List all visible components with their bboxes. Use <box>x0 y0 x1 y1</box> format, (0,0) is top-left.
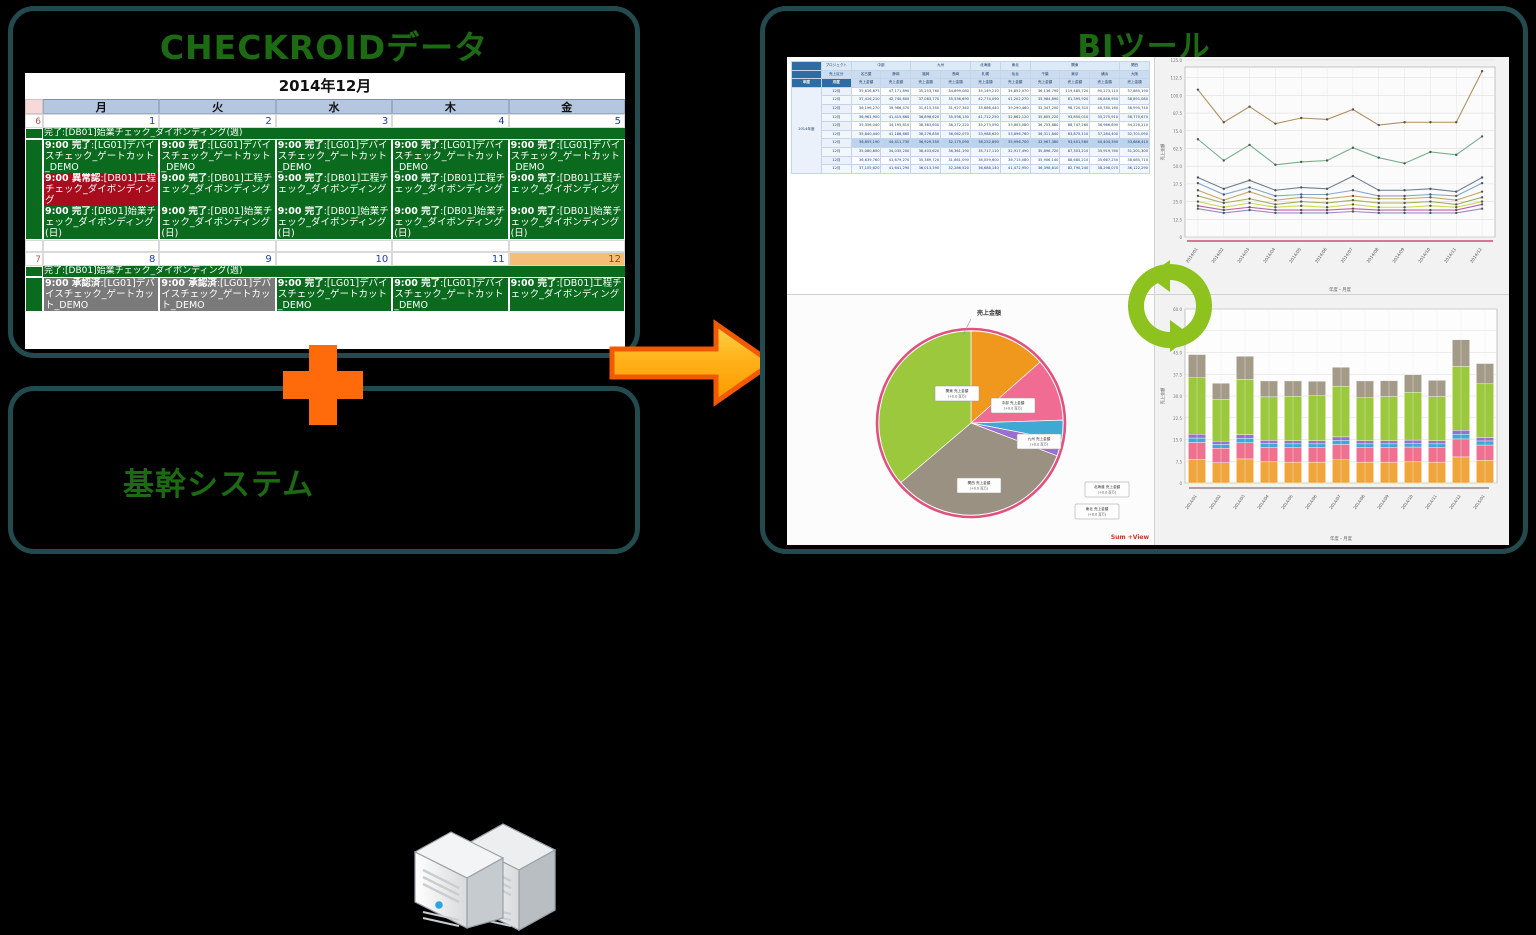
table-month-cell[interactable]: 12月 <box>821 130 851 139</box>
line-chart-point <box>1223 202 1225 204</box>
calendar-week1-banner[interactable]: 完了:[DB01]始業チェック_ダイボンディング(週) <box>43 128 625 139</box>
table-cell[interactable]: 35,389,720 <box>911 156 941 165</box>
table-cell[interactable]: 31,201,300 <box>1120 147 1150 156</box>
line-chart-point <box>1197 205 1199 207</box>
line-chart-point <box>1455 199 1457 201</box>
calendar-event-time: 9:00 完了 <box>161 140 207 151</box>
table-cell[interactable]: 31,861,090 <box>941 156 971 165</box>
table-cell[interactable]: 35,356,040 <box>851 122 881 131</box>
calendar-day-cell[interactable]: 9:00 完了:[LG01]デバイスチェック_ゲートカット_DEMO9:00 完… <box>159 139 275 240</box>
table-cell[interactable]: 36,062,070 <box>941 130 971 139</box>
table-corner-blank[interactable] <box>792 62 822 71</box>
table-cell[interactable]: 38,995,740 <box>1120 104 1150 113</box>
calendar-widget[interactable]: 2014年12月 月 火 水 木 金 6 1 2 3 4 5 完了:[DB01]… <box>25 73 625 349</box>
table-cell[interactable]: 34,195,810 <box>881 122 911 131</box>
calendar-week2-banner[interactable]: 完了:[DB01]始業チェック_ダイボンディング(週) <box>43 266 625 277</box>
line-chart-point <box>1378 202 1380 204</box>
table-corner-project[interactable]: プロジェクト <box>821 62 851 71</box>
table-cell[interactable]: 46,846,950 <box>1090 96 1120 105</box>
table-cell[interactable]: 35,919,760 <box>1090 147 1120 156</box>
table-cell[interactable]: 38,685,710 <box>1120 156 1150 165</box>
calendar-event-time: 9:00 完了 <box>511 140 557 151</box>
line-chart-point <box>1481 190 1483 192</box>
table-month-cell[interactable]: 12月 <box>821 147 851 156</box>
calendar-event[interactable]: 9:00 完了:[LG01]デバイスチェック_ゲートカット_DEMO <box>393 278 507 311</box>
bi-data-table[interactable]: プロジェクト中部九州北海道東北関東関西 売上区分名古屋静岡福岡長崎札幌仙台千葉東… <box>791 61 1150 174</box>
table-cell[interactable]: 35,984,890 <box>1030 96 1060 105</box>
table-cell[interactable]: 35,667,250 <box>1090 156 1120 165</box>
calendar-spacer-row <box>25 240 625 252</box>
calendar-day-cell[interactable]: 9:00 承認済:[LG01]デバイスチェック_ゲートカット_DEMO <box>43 277 159 312</box>
table-cell[interactable]: 31,927,340 <box>941 104 971 113</box>
table-cell[interactable]: 36,013,390 <box>911 165 941 174</box>
line-chart-point <box>1274 199 1276 201</box>
line-chart-point <box>1248 209 1250 211</box>
table-cell[interactable]: 42,774,090 <box>970 96 1000 105</box>
table-cell[interactable]: 38,252,890 <box>970 139 1000 148</box>
table-rowheader-month[interactable]: 月度 <box>821 79 851 88</box>
bi-pie-chart-pane[interactable]: 売上金額中部 売上金額(+0.0 百万)九州 売上金額(+0.0 百万)北海道 … <box>787 295 1155 545</box>
table-cell[interactable]: 36,966,890 <box>1090 122 1120 131</box>
line-chart-point <box>1481 196 1483 198</box>
table-sub-0[interactable]: 名古屋 <box>851 70 881 79</box>
table-cell[interactable]: 90,273,110 <box>1090 87 1120 96</box>
table-month-cell[interactable]: 12月 <box>821 156 851 165</box>
table-cell[interactable]: 36,961,900 <box>851 113 881 122</box>
line-chart-point <box>1300 212 1302 214</box>
bi-data-table-head: プロジェクト中部九州北海道東北関東関西 売上区分名古屋静岡福岡長崎札幌仙台千葉東… <box>792 62 1150 88</box>
table-group-3[interactable]: 東北 <box>1000 62 1030 71</box>
line-chart-point <box>1223 193 1225 195</box>
table-group-5[interactable]: 関西 <box>1120 62 1150 71</box>
calendar-week1-events: 9:00 完了:[LG01]デバイスチェック_ゲートカット_DEMO9:00 異… <box>25 139 625 240</box>
table-cell[interactable]: 88,747,260 <box>1060 122 1090 131</box>
table-sub-6[interactable]: 千葉 <box>1030 70 1060 79</box>
line-chart-point <box>1378 156 1380 158</box>
table-cell[interactable]: 40,404,390 <box>1090 139 1120 148</box>
table-year-label: 2014年度 <box>792 87 822 173</box>
table-cell[interactable]: 32,347,200 <box>1030 104 1060 113</box>
table-cell[interactable]: 41,641,290 <box>881 165 911 174</box>
table-measure-6[interactable]: 売上金額 <box>1030 79 1060 88</box>
table-cell[interactable]: 36,122,290 <box>1120 165 1150 174</box>
server-stack-icon <box>403 806 583 931</box>
table-cell[interactable]: 36,136,790 <box>1030 87 1060 96</box>
line-chart-point <box>1455 209 1457 211</box>
table-month-cell[interactable]: 12月 <box>821 139 851 148</box>
table-cell[interactable]: 81,395,920 <box>1060 96 1090 105</box>
line-chart-point <box>1248 144 1250 146</box>
line-chart-ytick: 50.0 <box>1173 164 1182 169</box>
line-chart-point <box>1378 206 1380 208</box>
table-cell[interactable]: 33,896,760 <box>1000 130 1030 139</box>
calendar-day-9[interactable]: 9 <box>159 252 275 266</box>
table-cell[interactable]: 35,273,090 <box>970 122 1000 131</box>
line-chart-point <box>1197 138 1199 140</box>
calendar-event-time: 9:00 完了 <box>45 206 91 217</box>
pie-label-line2: (+0.0 百万) <box>970 487 988 491</box>
bar-chart-ytick: 22.5 <box>1173 416 1182 421</box>
table-cell[interactable]: 47,171,890 <box>881 87 911 96</box>
plus-icon-vertical-bar <box>309 345 337 425</box>
calendar-event[interactable]: 9:00 完了:[LG01]デバイスチェック_ゲートカット_DEMO <box>277 278 391 311</box>
line-chart-point <box>1248 105 1250 107</box>
table-cell[interactable]: 39,290,460 <box>1000 104 1030 113</box>
table-cell[interactable]: 44,411,730 <box>881 139 911 148</box>
line-chart-point <box>1352 203 1354 205</box>
table-cell[interactable]: 35,896,720 <box>1030 147 1060 156</box>
table-measure-9[interactable]: 売上金額 <box>1120 79 1150 88</box>
line-chart-point <box>1326 206 1328 208</box>
table-row[interactable]: 12月37,416,21042,740,60037,063,77035,536,… <box>792 96 1150 105</box>
table-cell[interactable]: 35,149,210 <box>970 87 1000 96</box>
table-cell[interactable]: 93,850,010 <box>1060 113 1090 122</box>
table-row[interactable]: 12月35,640,44041,186,66038,276,85036,062,… <box>792 130 1150 139</box>
line-chart-ytick: 12.5 <box>1173 217 1182 222</box>
table-cell[interactable]: 36,059,600 <box>970 156 1000 165</box>
line-chart-point <box>1248 179 1250 181</box>
table-cell[interactable]: 41,472,950 <box>1000 165 1030 174</box>
table-measure-7[interactable]: 売上金額 <box>1060 79 1090 88</box>
line-chart-point <box>1403 209 1405 211</box>
line-chart-point <box>1326 212 1328 214</box>
line-chart-ytick: 87.5 <box>1173 111 1182 116</box>
table-cell[interactable]: 37,284,400 <box>1090 130 1120 139</box>
table-cell[interactable]: 35,717,110 <box>970 147 1000 156</box>
line-chart-point <box>1274 203 1276 205</box>
line-chart-point <box>1248 186 1250 188</box>
calendar-day-cell[interactable]: 9:00 完了:[LG01]デバイスチェック_ゲートカット_DEMO9:00 異… <box>43 139 159 240</box>
table-cell[interactable]: 41,679,270 <box>881 156 911 165</box>
calendar-day-1[interactable]: 1 <box>43 114 159 128</box>
line-chart-point <box>1429 188 1431 190</box>
table-group-1[interactable]: 九州 <box>911 62 971 71</box>
calendar-dow-mon: 月 <box>43 99 159 114</box>
table-sub-9[interactable]: 大阪 <box>1120 70 1150 79</box>
table-measure-5[interactable]: 売上金額 <box>1000 79 1030 88</box>
table-cell[interactable]: 42,740,600 <box>881 96 911 105</box>
table-corner-blank2[interactable] <box>792 70 822 79</box>
table-cell[interactable]: 35,640,440 <box>851 130 881 139</box>
pie-chart-title: 売上金額 <box>976 309 1001 317</box>
table-sub-7[interactable]: 東京 <box>1060 70 1090 79</box>
table-measure-3[interactable]: 売上金額 <box>941 79 971 88</box>
calendar-day-11[interactable]: 11 <box>392 252 508 266</box>
table-sub-1[interactable]: 静岡 <box>881 70 911 79</box>
table-cell[interactable]: 34,899,080 <box>941 87 971 96</box>
bi-data-table-scroll[interactable]: プロジェクト中部九州北海道東北関東関西 売上区分名古屋静岡福岡長崎札幌仙台千葉東… <box>791 61 1150 290</box>
table-cell[interactable]: 98,720,310 <box>1060 104 1090 113</box>
table-cell[interactable]: 38,298,070 <box>1090 165 1120 174</box>
calendar-event[interactable]: 9:00 完了:[DB01]工程チェック_ダイボンディング <box>160 173 274 206</box>
calendar-event[interactable]: 9:00 完了:[DB01]工程チェック_ダイボンディング <box>393 173 507 206</box>
table-sub-2[interactable]: 福岡 <box>911 70 941 79</box>
calendar-event[interactable]: 9:00 完了:[DB01]始業チェック_ダイボンディング(日) <box>160 206 274 239</box>
line-chart-point <box>1223 206 1225 208</box>
calendar-week1-numbers: 6 1 2 3 4 5 <box>25 114 625 128</box>
line-chart-point <box>1300 200 1302 202</box>
calendar-day-cell[interactable]: 9:00 完了:[LG01]デバイスチェック_ゲートカット_DEMO9:00 完… <box>392 139 508 240</box>
table-cell[interactable]: 36,855,190 <box>851 139 881 148</box>
table-cell[interactable]: 36,715,080 <box>1000 156 1030 165</box>
table-cell[interactable]: 36,688,140 <box>970 165 1000 174</box>
calendar-event[interactable]: 9:00 承認済:[LG01]デバイスチェック_ゲートカット_DEMO <box>160 278 274 311</box>
table-cell[interactable]: 38,363,600 <box>911 122 941 131</box>
calendar-event[interactable]: 9:00 完了:[LG01]デバイスチェック_ゲートカット_DEMO <box>160 140 274 173</box>
line-chart-point <box>1455 154 1457 156</box>
calendar-event-time: 9:00 承認済 <box>161 278 216 289</box>
table-cell[interactable]: 35,996,700 <box>1000 139 1030 148</box>
table-cell[interactable]: 83,875,110 <box>1060 130 1090 139</box>
table-cell[interactable]: 33,686,410 <box>1120 139 1150 148</box>
line-chart-point <box>1378 212 1380 214</box>
table-month-cell[interactable]: 12月 <box>821 122 851 131</box>
calendar-day-cell[interactable]: 9:00 完了:[LG01]デバイスチェック_ゲートカット_DEMO9:00 完… <box>509 139 625 240</box>
table-measure-1[interactable]: 売上金額 <box>881 79 911 88</box>
table-row[interactable]: 12月37,105,62041,641,29036,013,39032,286,… <box>792 165 1150 174</box>
table-cell[interactable]: 35,596,130 <box>941 113 971 122</box>
pie-label-1: 九州 売上金額(+0.0 百万) <box>1017 434 1061 449</box>
table-cell[interactable]: 37,105,620 <box>851 165 881 174</box>
bar-chart-ytick: 15.0 <box>1173 438 1182 443</box>
table-measure-0[interactable]: 売上金額 <box>851 79 881 88</box>
calendar-day-cell[interactable]: 9:00 承認済:[LG01]デバイスチェック_ゲートカット_DEMO <box>159 277 275 312</box>
pie-label-5: 関西 売上金額(+0.0 百万) <box>957 478 1001 493</box>
calendar-event[interactable]: 9:00 完了:[DB01]始業チェック_ダイボンディング(日) <box>510 206 624 239</box>
line-chart-point <box>1326 188 1328 190</box>
table-group-0[interactable]: 中部 <box>851 62 911 71</box>
calendar-event[interactable]: 9:00 完了:[DB01]工程チェック_ダイボンディング <box>277 173 391 206</box>
line-chart-point <box>1197 176 1199 178</box>
table-cell[interactable]: 33,988,620 <box>970 130 1000 139</box>
table-cell[interactable]: 35,686,440 <box>970 104 1000 113</box>
calendar-dow-thu: 木 <box>392 99 508 114</box>
line-chart-point <box>1403 121 1405 123</box>
line-chart-point <box>1197 200 1199 202</box>
calendar-day-3[interactable]: 3 <box>276 114 392 128</box>
line-chart-point <box>1326 118 1328 120</box>
table-cell[interactable]: 33,805,080 <box>1000 122 1030 131</box>
table-cell[interactable]: 36,753,880 <box>1030 122 1060 131</box>
table-cell[interactable]: 38,775,670 <box>1120 113 1150 122</box>
bar-chart-ytick: 7.5 <box>1176 459 1183 464</box>
table-sub-5[interactable]: 仙台 <box>1000 70 1030 79</box>
calendar-event[interactable]: 9:00 完了:[DB01]始業チェック_ダイボンディング(日) <box>277 206 391 239</box>
calendar-day-8[interactable]: 8 <box>43 252 159 266</box>
calendar-day-4[interactable]: 4 <box>392 114 508 128</box>
line-chart-point <box>1223 121 1225 123</box>
table-month-cell[interactable]: 12月 <box>821 113 851 122</box>
table-cell[interactable]: 36,311,840 <box>1030 130 1060 139</box>
table-cell[interactable]: 41,415,860 <box>881 113 911 122</box>
table-cell[interactable]: 36,361,190 <box>941 147 971 156</box>
table-row[interactable]: 12月36,196,27039,986,47031,415,35031,927,… <box>792 104 1150 113</box>
table-cell[interactable]: 35,080,800 <box>851 147 881 156</box>
calendar-gutter-cell <box>25 139 43 240</box>
line-chart-point <box>1223 209 1225 211</box>
calendar-event[interactable]: 9:00 完了:[DB01]始業チェック_ダイボンディング(日) <box>44 206 158 239</box>
table-month-cell[interactable]: 12月 <box>821 104 851 113</box>
table-cell[interactable]: 35,275,910 <box>1090 113 1120 122</box>
line-chart-point <box>1326 209 1328 211</box>
line-chart-point <box>1352 189 1354 191</box>
pie-label-line1: 関東 売上金額 <box>946 388 969 393</box>
table-sub-8[interactable]: 横浜 <box>1090 70 1120 79</box>
table-cell[interactable]: 82,790,240 <box>1060 165 1090 174</box>
line-chart-point <box>1274 212 1276 214</box>
line-chart-point <box>1223 199 1225 201</box>
calendar-event-time: 9:00 完了 <box>511 173 557 184</box>
table-cell[interactable]: 36,398,810 <box>1030 165 1060 174</box>
table-cell[interactable]: 32,286,520 <box>941 165 971 174</box>
table-row[interactable]: 12月36,639,76041,679,27035,389,72031,861,… <box>792 156 1150 165</box>
table-cell[interactable]: 32,701,090 <box>1120 130 1150 139</box>
line-chart-point <box>1403 198 1405 200</box>
calendar-event[interactable]: 9:00 完了:[LG01]デバイスチェック_ゲートカット_DEMO <box>393 140 507 173</box>
calendar-dow-tue: 火 <box>159 99 275 114</box>
table-cell[interactable]: 34,035,200 <box>881 147 911 156</box>
calendar-month-title: 2014年12月 <box>25 73 625 99</box>
table-rowheader-uriage[interactable]: 売上区分 <box>821 70 851 79</box>
table-sub-4[interactable]: 札幌 <box>970 70 1000 79</box>
calendar-event[interactable]: 9:00 完了:[LG01]デバイスチェック_ゲートカット_DEMO <box>277 140 391 173</box>
line-chart-point <box>1481 207 1483 209</box>
line-chart-point <box>1378 189 1380 191</box>
calendar-week2-numbers: 7 8 9 10 11 12 <box>25 252 625 266</box>
table-row[interactable]: 2014年度12月35,616,87547,171,89035,253,7603… <box>792 87 1150 96</box>
table-measure-4[interactable]: 売上金額 <box>970 79 1000 88</box>
table-cell[interactable]: 35,536,690 <box>941 96 971 105</box>
table-cell[interactable]: 36,196,270 <box>851 104 881 113</box>
line-chart-point <box>1429 212 1431 214</box>
table-cell[interactable]: 37,063,770 <box>911 96 941 105</box>
table-month-cell[interactable]: 12月 <box>821 96 851 105</box>
line-chart-point <box>1429 193 1431 195</box>
table-group-2[interactable]: 北海道 <box>970 62 1000 71</box>
table-row[interactable]: 12月36,855,19044,411,73036,929,35032,175,… <box>792 139 1150 148</box>
table-rowheader-year[interactable]: 年度 <box>792 79 822 88</box>
pie-label-line2: (+0.0 百万) <box>1098 491 1116 495</box>
pie-chart: 売上金額中部 売上金額(+0.0 百万)九州 売上金額(+0.0 百万)北海道 … <box>787 295 1155 545</box>
pie-label-line2: (+0.0 百万) <box>1030 443 1048 447</box>
table-cell[interactable]: 32,917,490 <box>1000 147 1030 156</box>
table-cell[interactable]: 37,416,210 <box>851 96 881 105</box>
table-cell[interactable]: 31,415,350 <box>911 104 941 113</box>
bar-chart-ytick: 37.5 <box>1173 372 1182 377</box>
bi-data-table-body[interactable]: 2014年度12月35,616,87547,171,89035,253,7603… <box>792 87 1150 173</box>
line-chart-point <box>1429 151 1431 153</box>
arrow-right-icon <box>608 318 776 408</box>
table-measure-2[interactable]: 売上金額 <box>911 79 941 88</box>
line-chart-point <box>1197 182 1199 184</box>
table-cell[interactable]: 35,253,760 <box>911 87 941 96</box>
table-sub-header-row: 売上区分名古屋静岡福岡長崎札幌仙台千葉東京横浜大阪 <box>792 70 1150 79</box>
calendar-day-cell[interactable]: 9:00 完了:[DB01]工程チェック_ダイボンディング <box>509 277 625 312</box>
calendar-day-2[interactable]: 2 <box>159 114 275 128</box>
table-sub-3[interactable]: 長崎 <box>941 70 971 79</box>
table-cell[interactable]: 38,276,850 <box>911 130 941 139</box>
line-chart-point <box>1455 212 1457 214</box>
table-cell[interactable]: 88,680,210 <box>1060 156 1090 165</box>
line-chart-ytick: 25.0 <box>1173 200 1182 205</box>
line-chart-point <box>1248 202 1250 204</box>
calendar-day-cell[interactable]: 9:00 完了:[LG01]デバイスチェック_ゲートカット_DEMO <box>276 277 392 312</box>
calendar-event[interactable]: 9:00 異常認:[DB01]工程チェック_ダイボンディング <box>44 173 158 206</box>
calendar-event[interactable]: 9:00 承認済:[LG01]デバイスチェック_ゲートカット_DEMO <box>44 278 158 311</box>
table-cell[interactable]: 32,862,120 <box>1000 113 1030 122</box>
table-cell[interactable]: 40,780,160 <box>1090 104 1120 113</box>
table-cell[interactable]: 36,272,220 <box>941 122 971 131</box>
table-cell[interactable]: 36,929,350 <box>911 139 941 148</box>
calendar-spacer-cell <box>509 240 625 252</box>
table-cell[interactable]: 35,805,220 <box>1030 113 1060 122</box>
table-cell[interactable]: 41,712,250 <box>970 113 1000 122</box>
calendar-event-time: 9:00 完了 <box>278 140 324 151</box>
calendar-event[interactable]: 9:00 完了:[DB01]始業チェック_ダイボンディング(日) <box>393 206 507 239</box>
table-cell[interactable]: 35,906,140 <box>1030 156 1060 165</box>
line-chart-point <box>1300 205 1302 207</box>
table-row[interactable]: 12月35,080,80034,035,20038,403,62036,361,… <box>792 147 1150 156</box>
pie-label-line2: (+0.0 百万) <box>948 395 966 399</box>
table-cell[interactable]: 32,175,090 <box>941 139 971 148</box>
table-row[interactable]: 12月35,356,04034,195,81038,363,60036,272,… <box>792 122 1150 131</box>
table-cell[interactable]: 37,885,190 <box>1120 87 1150 96</box>
table-cell[interactable]: 38,403,620 <box>911 147 941 156</box>
calendar-day-cell[interactable]: 9:00 完了:[LG01]デバイスチェック_ゲートカット_DEMO9:00 完… <box>276 139 392 240</box>
calendar-corner-cell <box>25 99 43 114</box>
table-month-cell[interactable]: 12月 <box>821 165 851 174</box>
table-cell[interactable]: 119,485,720 <box>1060 87 1090 96</box>
table-cell[interactable]: 41,186,660 <box>881 130 911 139</box>
table-measure-header-row: 年度月度売上金額売上金額売上金額売上金額売上金額売上金額売上金額売上金額売上金額… <box>792 79 1150 88</box>
pie-label-line2: (+0.0 百万) <box>1004 407 1022 411</box>
bi-data-table-pane[interactable]: プロジェクト中部九州北海道東北関東関西 売上区分名古屋静岡福岡長崎札幌仙台千葉東… <box>787 57 1155 295</box>
calendar-day-12[interactable]: 12 <box>509 252 625 266</box>
table-cell[interactable]: 36,639,760 <box>851 156 881 165</box>
calendar-day-cell[interactable]: 9:00 完了:[LG01]デバイスチェック_ゲートカット_DEMO <box>392 277 508 312</box>
calendar-day-10[interactable]: 10 <box>276 252 392 266</box>
calendar-day-5[interactable]: 5 <box>509 114 625 128</box>
table-group-4[interactable]: 関東 <box>1030 62 1119 71</box>
table-month-cell[interactable]: 12月 <box>821 87 851 96</box>
calendar-event[interactable]: 9:00 完了:[DB01]工程チェック_ダイボンディング <box>510 173 624 206</box>
table-cell[interactable]: 41,202,270 <box>1000 96 1030 105</box>
table-cell[interactable]: 36,898,620 <box>911 113 941 122</box>
table-measure-8[interactable]: 売上金額 <box>1090 79 1120 88</box>
table-cell[interactable]: 34,220,210 <box>1120 122 1150 131</box>
calendar-event[interactable]: 9:00 完了:[LG01]デバイスチェック_ゲートカット_DEMO <box>510 140 624 173</box>
table-cell[interactable]: 34,852,070 <box>1000 87 1030 96</box>
table-cell[interactable]: 38,891,080 <box>1120 96 1150 105</box>
line-chart-point <box>1274 189 1276 191</box>
table-cell[interactable]: 32,967,380 <box>1030 139 1060 148</box>
calendar-event-time: 9:00 完了 <box>278 278 324 289</box>
line-chart-point <box>1197 189 1199 191</box>
table-cell[interactable]: 39,986,470 <box>881 104 911 113</box>
line-chart-point <box>1429 205 1431 207</box>
table-cell[interactable]: 35,616,875 <box>851 87 881 96</box>
calendar-event[interactable]: 9:00 完了:[LG01]デバイスチェック_ゲートカット_DEMO <box>44 140 158 173</box>
line-chart-point <box>1455 206 1457 208</box>
line-chart-point <box>1403 162 1405 164</box>
pie-label-line1: 東北 売上金額 <box>1086 506 1109 511</box>
calendar-dow-wed: 水 <box>276 99 392 114</box>
calendar-event[interactable]: 9:00 完了:[DB01]工程チェック_ダイボンディング <box>510 278 624 311</box>
line-chart-point <box>1274 195 1276 197</box>
table-cell[interactable]: 87,303,210 <box>1060 147 1090 156</box>
table-row[interactable]: 12月36,961,90041,415,86036,898,62035,596,… <box>792 113 1150 122</box>
table-cell[interactable]: 93,401,560 <box>1060 139 1090 148</box>
